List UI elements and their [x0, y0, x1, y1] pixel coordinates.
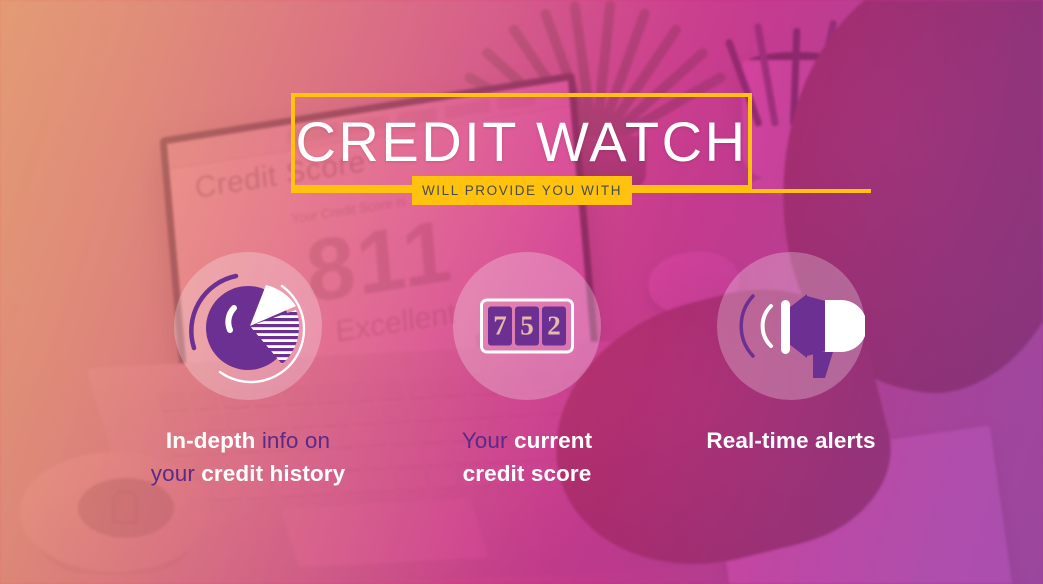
caption-bold-3a: Real-time alerts	[706, 428, 875, 453]
megaphone-icon	[717, 252, 865, 400]
score-digits-icon: 7 5 2	[480, 299, 574, 354]
feature-in-depth-info[interactable]: In-depth info on your credit history	[138, 252, 358, 490]
feature-icon-circle-3	[717, 252, 865, 400]
caption-reg-2a: Your	[462, 428, 514, 453]
feature-caption-2: Your current credit score	[417, 424, 637, 490]
feature-icon-circle-2: 7 5 2	[453, 252, 601, 400]
page-title: CREDIT WATCH	[291, 93, 752, 189]
subtitle-label: WILL PROVIDE YOU WITH	[422, 183, 622, 198]
pie-chart-icon	[174, 252, 322, 400]
caption-bold-2a: current	[514, 428, 592, 453]
caption-reg-1a: info on	[262, 428, 330, 453]
slide-root: Credit Score Your Credit Score Is 811 Ex…	[0, 0, 1043, 584]
feature-realtime-alerts[interactable]: Real-time alerts	[681, 252, 901, 457]
feature-current-score[interactable]: 7 5 2 Your current credit score	[417, 252, 637, 490]
caption-bold-2b: credit score	[463, 461, 592, 486]
score-digit-2: 5	[515, 307, 539, 346]
score-digit-1: 7	[488, 307, 512, 346]
subtitle-banner: WILL PROVIDE YOU WITH	[412, 176, 632, 205]
score-digit-3: 2	[542, 307, 566, 346]
caption-reg-1b: your	[151, 461, 202, 486]
caption-bold-1a: In-depth	[166, 428, 262, 453]
feature-icon-circle-1	[174, 252, 322, 400]
feature-caption-1: In-depth info on your credit history	[138, 424, 358, 490]
feature-caption-3: Real-time alerts	[681, 424, 901, 457]
caption-bold-1b: credit history	[201, 461, 345, 486]
